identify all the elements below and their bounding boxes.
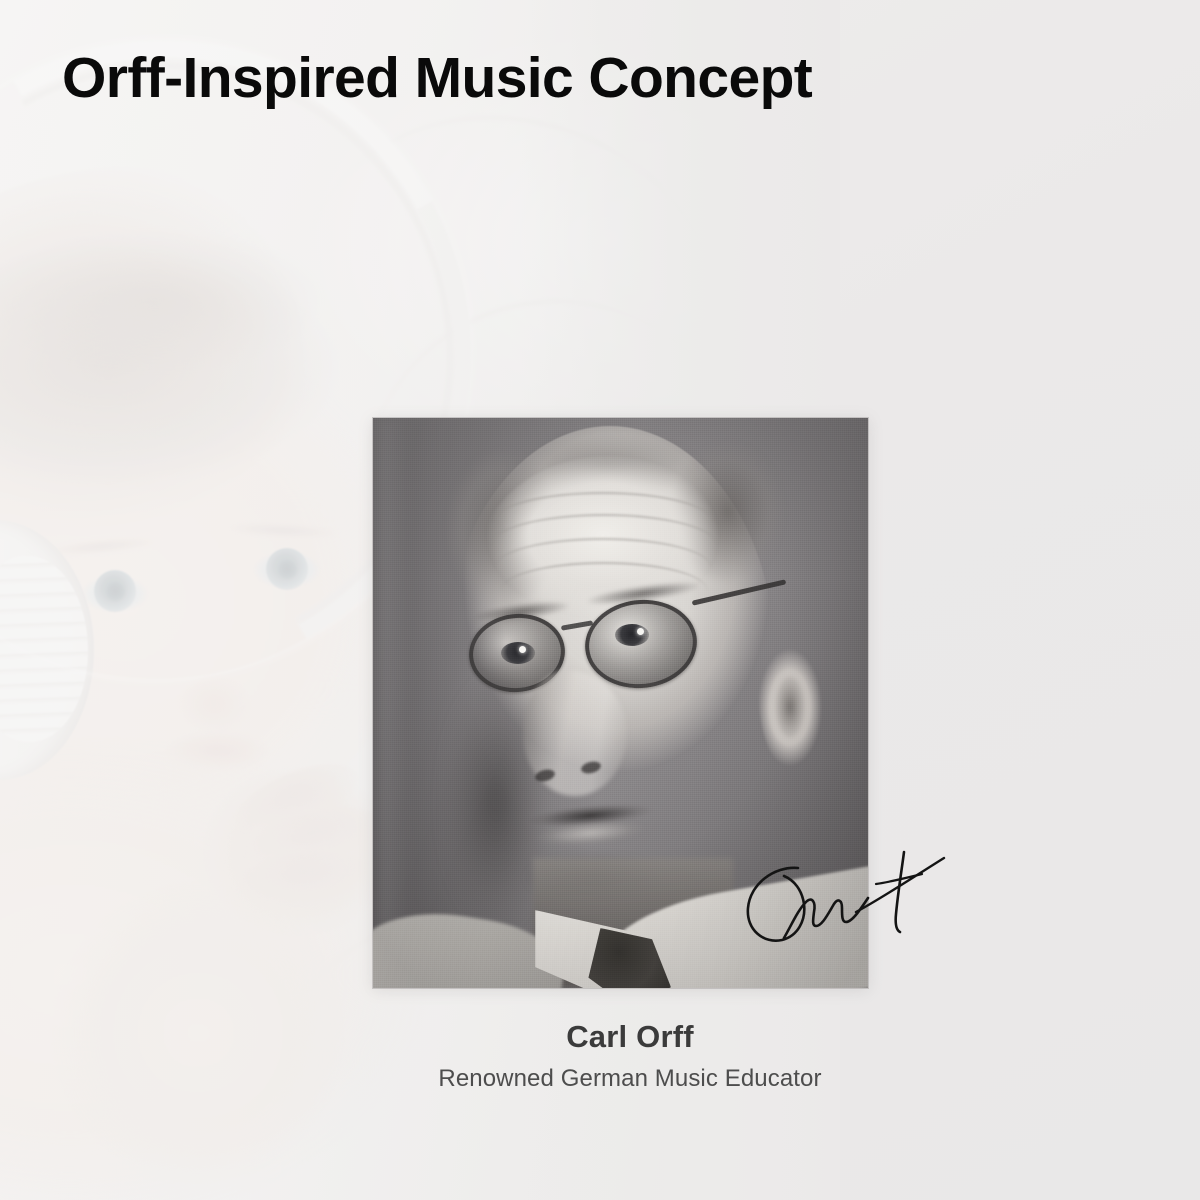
caption-role: Renowned German Music Educator <box>180 1063 1080 1094</box>
carl-orff-portrait-photo[interactable] <box>373 418 868 988</box>
portrait-caption: Carl Orff Renowned German Music Educator <box>180 1018 1080 1094</box>
portrait-highlight <box>373 418 868 988</box>
portrait-card[interactable] <box>373 418 868 988</box>
caption-name: Carl Orff <box>180 1018 1080 1057</box>
poster-canvas: Orff-Inspired Music Concept <box>0 0 1200 1200</box>
page-title: Orff-Inspired Music Concept <box>62 48 812 110</box>
